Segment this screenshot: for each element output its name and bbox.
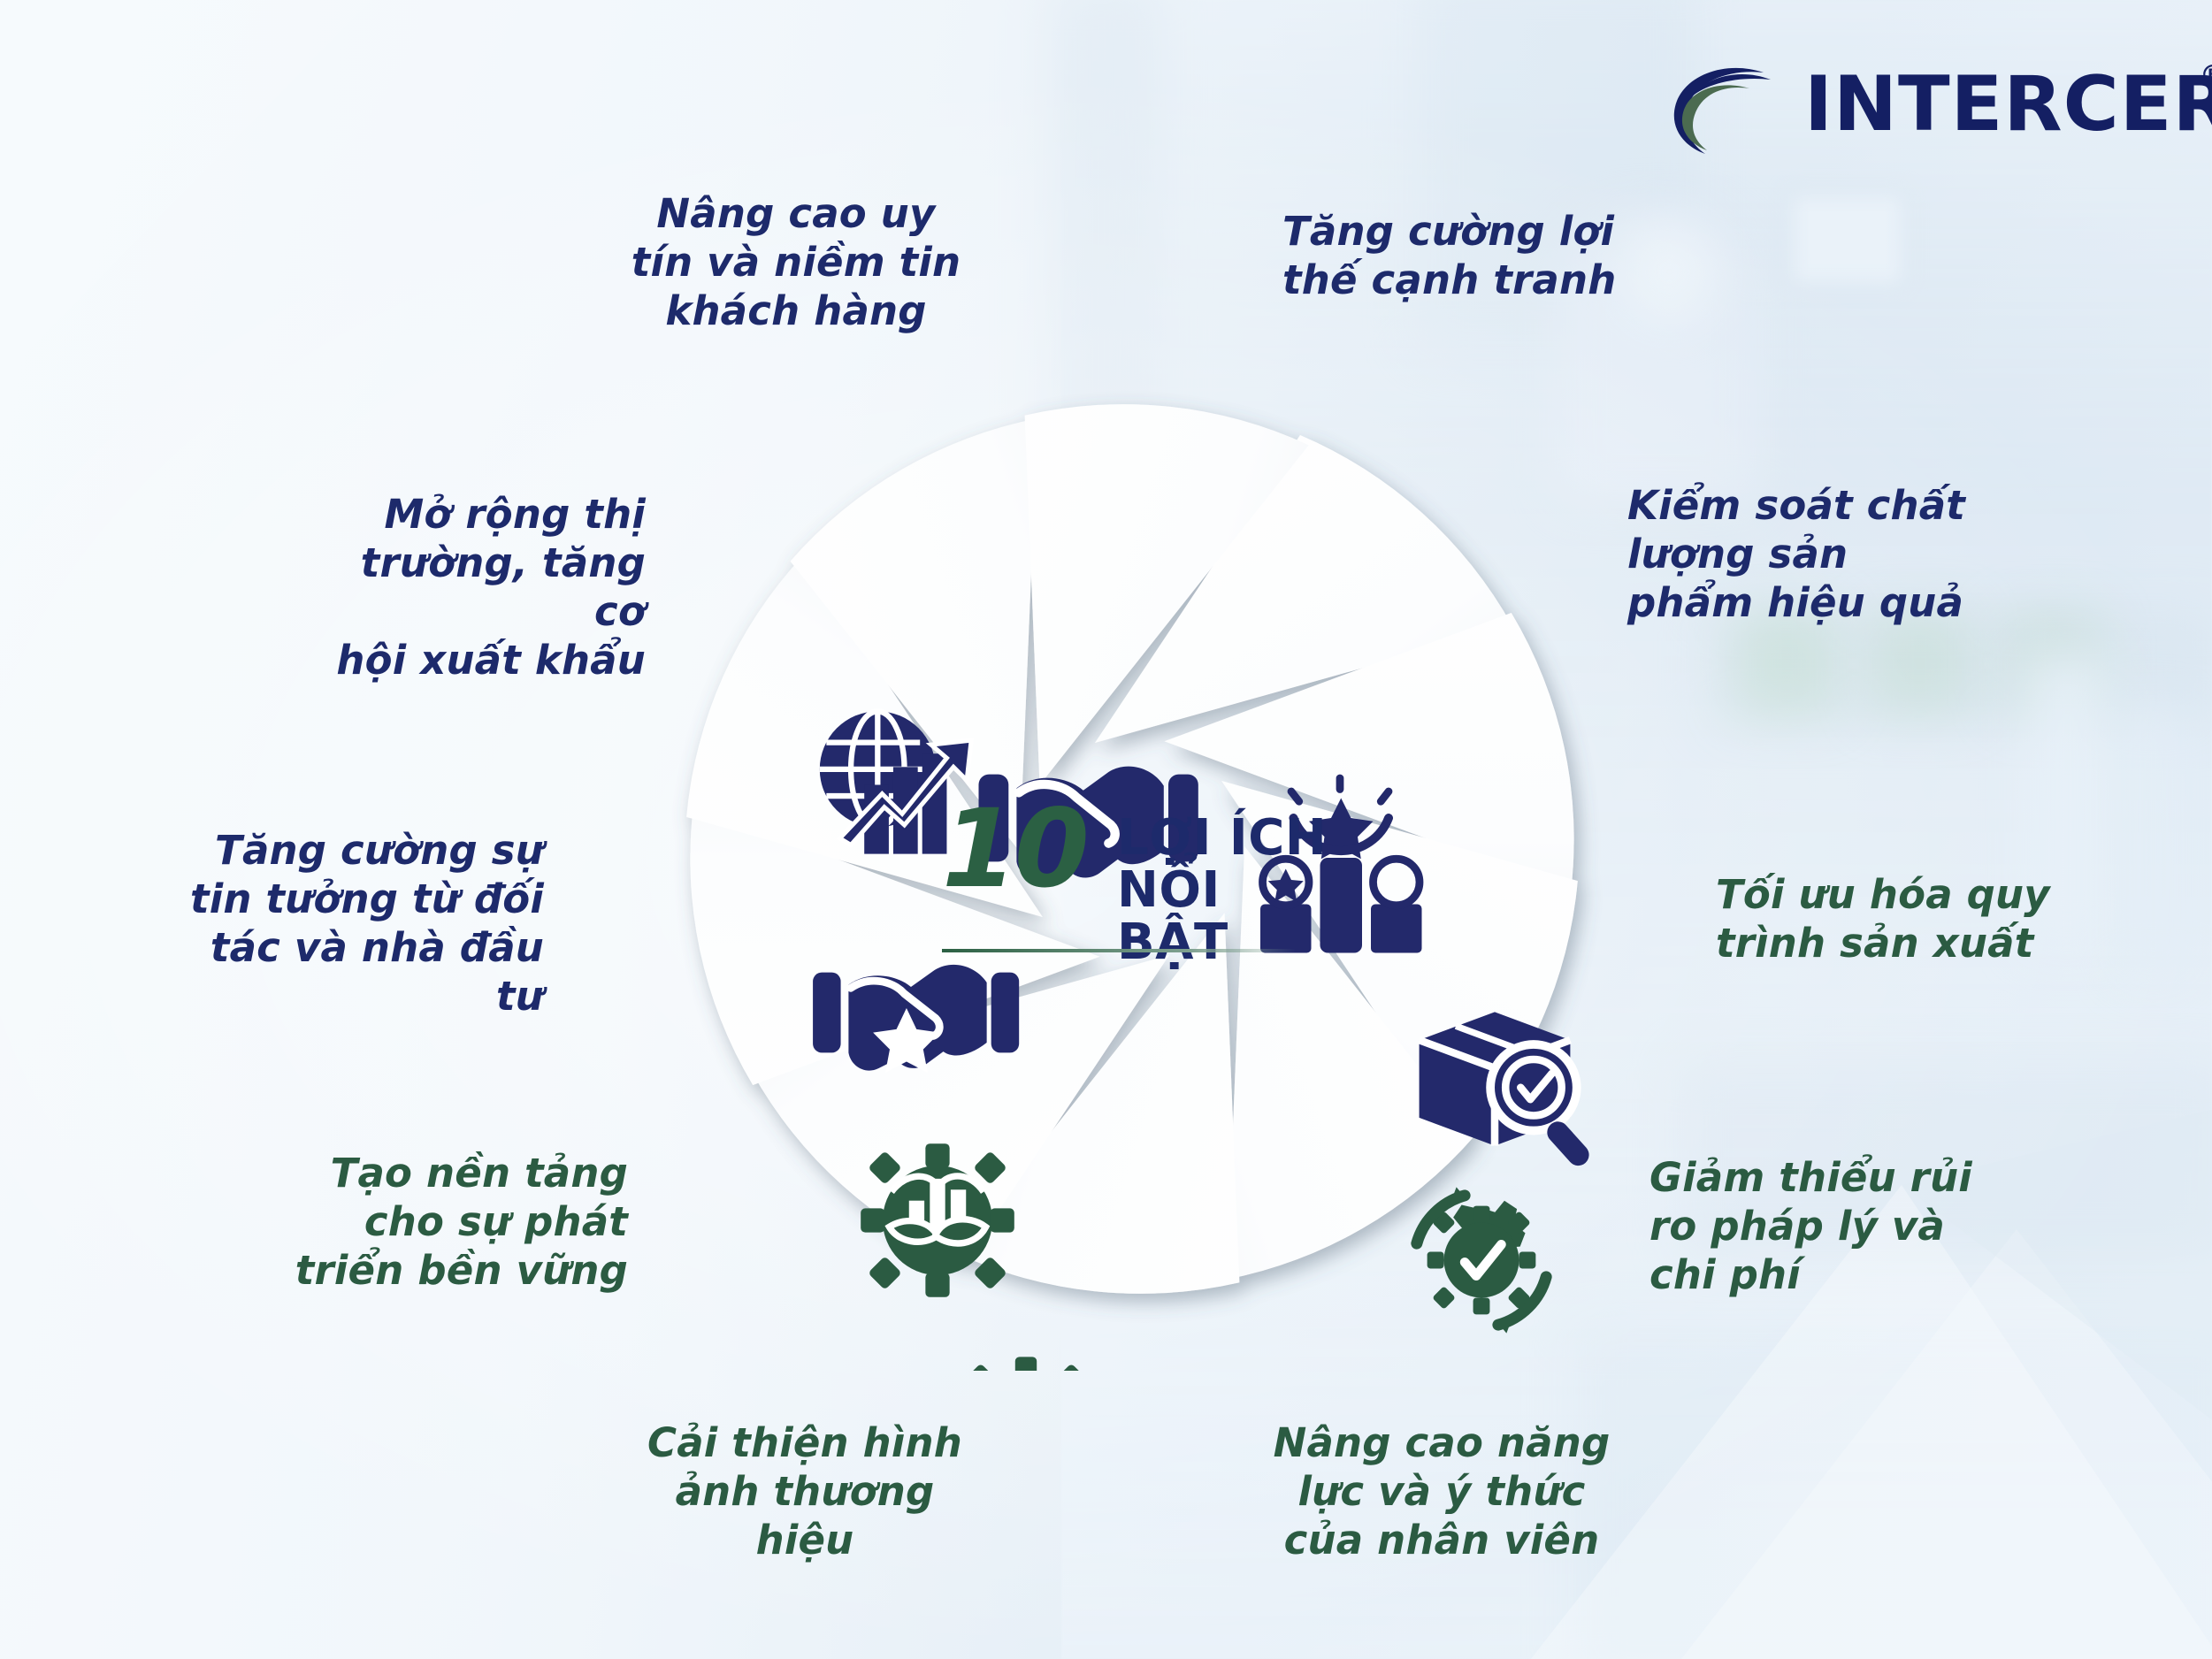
label-line: tin tưởng từ đối bbox=[172, 875, 544, 924]
label-line: Mở rộng thị bbox=[310, 491, 646, 539]
center-title: LỢI ÍCH NỔI BẬT bbox=[1117, 813, 1340, 968]
label-line: chi phí bbox=[1649, 1251, 2003, 1300]
center-title-line1: LỢI ÍCH bbox=[1117, 813, 1340, 865]
label-line: hội xuất khẩu bbox=[310, 637, 646, 685]
center-caption: 10 LỢI ÍCH NỔI BẬT bbox=[933, 800, 1340, 986]
benefit-count: 10 bbox=[942, 795, 1087, 903]
label-line: tín và niềm tin bbox=[619, 239, 973, 287]
label-line: trường, tăng cơ bbox=[310, 539, 646, 637]
logo-wordmark: INTERCERT bbox=[1804, 60, 2212, 149]
label-line: lượng sản bbox=[1627, 531, 1999, 579]
label-line: khách hàng bbox=[619, 287, 973, 336]
benefit-label-8: Tạo nền tảngcho sự pháttriển bền vững bbox=[292, 1150, 628, 1296]
label-line: Kiểm soát chất bbox=[1627, 482, 1999, 531]
benefit-label-6: Nâng cao nănglực và ý thứccủa nhân viên bbox=[1256, 1419, 1627, 1565]
benefit-label-7: Cải thiện hìnhảnh thươnghiệu bbox=[637, 1419, 973, 1565]
label-line: của nhân viên bbox=[1256, 1517, 1627, 1565]
center-underline bbox=[942, 949, 1296, 952]
benefit-label-4: Tối ưu hóa quytrình sản xuất bbox=[1716, 871, 2087, 968]
globe-swoosh-icon bbox=[1665, 53, 1815, 159]
benefit-label-10: Mở rộng thịtrường, tăng cơhội xuất khẩu bbox=[310, 491, 646, 685]
intercert-logo: INTERCERT ® bbox=[1672, 53, 2202, 159]
label-line: Tạo nền tảng bbox=[292, 1150, 628, 1198]
label-line: Giảm thiểu rủi bbox=[1649, 1154, 2003, 1203]
gear-star-icon bbox=[959, 1357, 1092, 1371]
benefit-label-9: Tăng cường sựtin tưởng từ đốitác và nhà … bbox=[172, 827, 544, 1021]
logo-registered-mark: ® bbox=[2200, 60, 2212, 91]
benefit-label-2: Tăng cường lợithế cạnh tranh bbox=[1282, 208, 1654, 305]
benefit-label-1: Nâng cao uytín và niềm tinkhách hàng bbox=[619, 190, 973, 336]
label-line: lực và ý thức bbox=[1256, 1468, 1627, 1517]
gear-check-cycle-icon bbox=[1417, 1187, 1546, 1333]
label-line: Tăng cường sự bbox=[172, 827, 544, 875]
label-line: thế cạnh tranh bbox=[1282, 256, 1654, 305]
label-line: tác và nhà đầu tư bbox=[172, 924, 544, 1021]
gear-leaf-growth-icon bbox=[861, 1143, 1014, 1297]
label-line: Nâng cao uy bbox=[619, 190, 973, 239]
label-line: cho sự phát bbox=[292, 1198, 628, 1247]
label-line: Nâng cao năng bbox=[1256, 1419, 1627, 1468]
label-line: trình sản xuất bbox=[1716, 920, 2087, 968]
label-line: Cải thiện hình bbox=[637, 1419, 973, 1468]
label-line: ảnh thương bbox=[637, 1468, 973, 1517]
center-title-line2: NỔI BẬT bbox=[1117, 865, 1340, 969]
label-line: Tăng cường lợi bbox=[1282, 208, 1654, 256]
label-line: triển bền vững bbox=[292, 1247, 628, 1296]
label-line: phẩm hiệu quả bbox=[1627, 579, 1999, 628]
label-line: ro pháp lý và bbox=[1649, 1203, 2003, 1251]
benefit-label-5: Giảm thiểu rủiro pháp lý vàchi phí bbox=[1649, 1154, 2003, 1300]
label-line: hiệu bbox=[637, 1517, 973, 1565]
label-line: Tối ưu hóa quy bbox=[1716, 871, 2087, 920]
benefit-label-3: Kiểm soát chấtlượng sảnphẩm hiệu quả bbox=[1627, 482, 1999, 628]
